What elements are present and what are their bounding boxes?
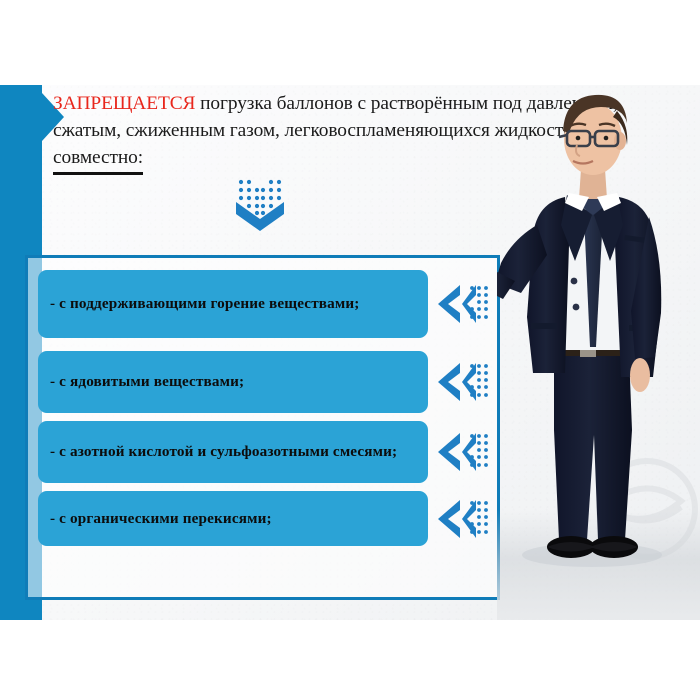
heading-line3-underlined: совместно: bbox=[53, 144, 143, 175]
businessman-pointing-figure bbox=[497, 85, 700, 620]
item-label: - с поддерживающими горение веществами; bbox=[50, 293, 360, 315]
item-label: - с органическими перекисями; bbox=[50, 508, 272, 530]
list-item[interactable]: - с азотной кислотой и сульфоазотными см… bbox=[38, 421, 493, 483]
item-label: - с азотной кислотой и сульфоазотными см… bbox=[50, 441, 397, 463]
slide-canvas: ЗАПРЕЩАЕТСЯ погрузка баллонов с растворё… bbox=[0, 85, 700, 620]
item-pill[interactable]: - с азотной кислотой и сульфоазотными см… bbox=[38, 421, 428, 483]
halftone-chevron-left-icon bbox=[436, 361, 494, 403]
halftone-chevron-left-icon bbox=[436, 283, 494, 325]
forbidden-items-panel: - с поддерживающими горение веществами; … bbox=[25, 255, 500, 600]
item-pill[interactable]: - с ядовитыми веществами; bbox=[38, 351, 428, 413]
item-label: - с ядовитыми веществами; bbox=[50, 371, 244, 393]
list-item[interactable]: - с ядовитыми веществами; bbox=[38, 351, 493, 413]
item-pill[interactable]: - с поддерживающими горение веществами; bbox=[38, 270, 428, 338]
list-item[interactable]: - с органическими перекисями; bbox=[38, 491, 493, 546]
list-item[interactable]: - с поддерживающими горение веществами; bbox=[38, 270, 493, 338]
heading-emphasis: ЗАПРЕЩАЕТСЯ bbox=[53, 93, 195, 114]
halftone-chevron-left-icon bbox=[436, 431, 494, 473]
halftone-chevron-left-icon bbox=[436, 498, 494, 540]
item-pill[interactable]: - с органическими перекисями; bbox=[38, 491, 428, 546]
halftone-chevron-down-icon bbox=[232, 178, 288, 233]
